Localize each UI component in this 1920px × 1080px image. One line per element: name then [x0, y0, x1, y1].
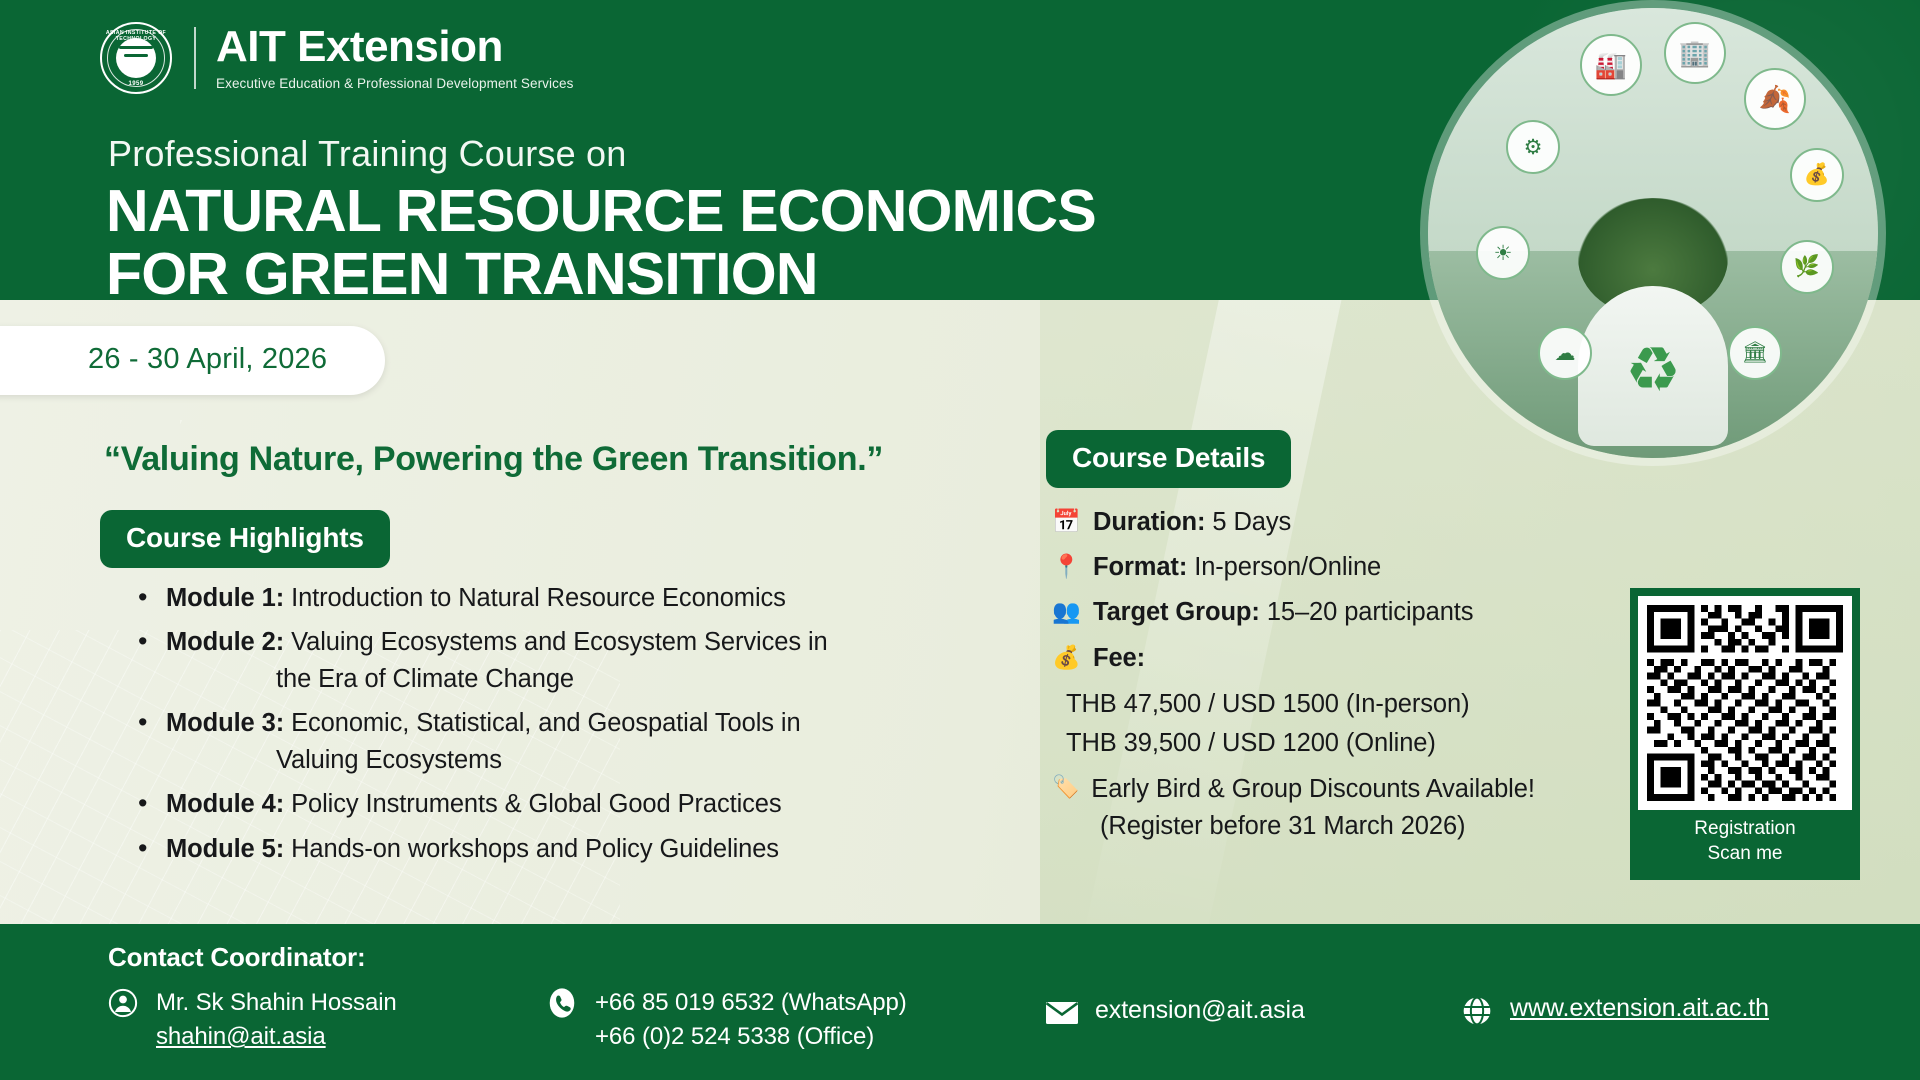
footer-contact-bar: Contact Coordinator: Mr. Sk Shahin Hossa… [0, 924, 1920, 1080]
module-text-cont: the Era of Climate Change [166, 661, 918, 697]
coordinator-email[interactable]: shahin@ait.asia [156, 1020, 397, 1054]
hero-sustainability-image: ♻ 🏭 🏢 🍂 ⚙ 💰 ☀ 🌿 ☁ 🏛 [1428, 8, 1878, 458]
detail-key: Duration: [1093, 508, 1205, 536]
calendar-icon: 📅 [1052, 504, 1080, 539]
ait-seal-icon: ASIAN INSTITUTE OF TECHNOLOGY 1959 [100, 22, 172, 94]
coordinator-name: Mr. Sk Shahin Hossain [156, 986, 397, 1020]
module-text: Policy Instruments & Global Good Practic… [291, 790, 781, 818]
detail-value: In-person/Online [1194, 553, 1381, 581]
module-label: Module 4: [166, 790, 284, 818]
co2-icon: ☁ [1538, 326, 1592, 380]
factory-icon: 🏭 [1580, 34, 1642, 96]
registration-qr-block[interactable]: Registration Scan me [1630, 588, 1860, 880]
contact-phone-block: +66 85 019 6532 (WhatsApp) +66 (0)2 524 … [545, 986, 907, 1054]
course-title: NATURAL RESOURCE ECONOMICS FOR GREEN TRA… [106, 180, 1096, 306]
money-plant-icon: 💰 [1790, 148, 1844, 202]
list-item: Module 2: Valuing Ecosystems and Ecosyst… [128, 624, 918, 697]
envelope-icon [1045, 996, 1079, 1030]
brand-tagline: Executive Education & Professional Devel… [216, 76, 573, 91]
course-details-list: 📅 Duration: 5 Days 📍 Format: In-person/O… [1052, 504, 1652, 841]
detail-value: 15–20 participants [1267, 598, 1474, 626]
detail-value: 5 Days [1212, 508, 1291, 536]
discount-deadline: (Register before 31 March 2026) [1052, 812, 1652, 841]
leaf-plug-icon: 🍂 [1744, 68, 1806, 130]
detail-row-duration: 📅 Duration: 5 Days [1052, 504, 1652, 541]
qr-code-image[interactable] [1638, 596, 1852, 810]
module-label: Module 1: [166, 584, 284, 612]
detail-key: Fee: [1093, 640, 1145, 677]
detail-key: Target Group: [1093, 598, 1260, 626]
phone-icon [545, 986, 579, 1020]
contact-website-block: www.extension.ait.ac.th [1460, 994, 1769, 1028]
qr-caption-line1: Registration [1630, 816, 1860, 841]
course-dates-pill: 26 - 30 April, 2026 [0, 326, 385, 395]
contact-email-block: extension@ait.asia [1045, 996, 1305, 1030]
list-item: Module 3: Economic, Statistical, and Geo… [128, 705, 918, 778]
course-details-badge: Course Details [1046, 430, 1291, 488]
detail-row-format: 📍 Format: In-person/Online [1052, 549, 1652, 586]
fee-inperson: THB 47,500 / USD 1500 (In-person) [1052, 685, 1652, 724]
module-text-cont: Valuing Ecosystems [166, 742, 918, 778]
list-item: Module 5: Hands-on workshops and Policy … [128, 831, 918, 867]
website-url[interactable]: www.extension.ait.ac.th [1510, 994, 1769, 1023]
discount-tag-icon: 🏷️ [1052, 771, 1079, 803]
contact-person-block: Mr. Sk Shahin Hossain shahin@ait.asia [106, 986, 397, 1054]
list-item: Module 4: Policy Instruments & Global Go… [128, 786, 918, 822]
solar-panel-icon: ☀ [1476, 226, 1530, 280]
module-text: Introduction to Natural Resource Economi… [291, 584, 786, 612]
module-label: Module 2: [166, 628, 284, 656]
course-modules-list: Module 1: Introduction to Natural Resour… [128, 580, 918, 875]
course-pretitle: Professional Training Course on [108, 133, 626, 175]
people-icon: 👥 [1052, 594, 1080, 629]
brand-logo: ASIAN INSTITUTE OF TECHNOLOGY 1959 AIT E… [100, 22, 573, 94]
globe-icon [1460, 994, 1494, 1028]
list-item: Module 1: Introduction to Natural Resour… [128, 580, 918, 616]
logo-divider [194, 27, 196, 89]
globe-icon [116, 38, 156, 78]
course-tagline: “Valuing Nature, Powering the Green Tran… [104, 440, 883, 479]
qr-caption-line2: Scan me [1630, 841, 1860, 866]
phone-office: +66 (0)2 524 5338 (Office) [595, 1020, 907, 1054]
building-people-icon: 🏢 [1664, 22, 1726, 84]
detail-key: Format: [1093, 553, 1187, 581]
course-highlights-badge: Course Highlights [100, 510, 390, 568]
brand-name: AIT Extension [216, 25, 573, 69]
detail-row-fee: 💰 Fee: [1052, 640, 1652, 677]
module-text: Economic, Statistical, and Geospatial To… [291, 709, 800, 737]
money-bag-icon: 💰 [1052, 640, 1080, 675]
discount-text: Early Bird & Group Discounts Available! [1091, 771, 1535, 808]
course-title-line2: FOR GREEN TRANSITION [106, 243, 1096, 306]
detail-row-target-group: 👥 Target Group: 15–20 participants [1052, 594, 1652, 631]
person-icon [106, 986, 140, 1020]
fee-online: THB 39,500 / USD 1200 (Online) [1052, 724, 1652, 763]
recycle-icon: ♻ [1625, 340, 1681, 402]
hand-leaf-icon: 🌿 [1780, 240, 1834, 294]
contact-email[interactable]: extension@ait.asia [1095, 996, 1305, 1025]
bank-icon: 🏛 [1728, 326, 1782, 380]
contact-coordinator-label: Contact Coordinator: [108, 942, 365, 973]
module-label: Module 5: [166, 835, 284, 863]
module-text: Valuing Ecosystems and Ecosystem Service… [291, 628, 828, 656]
course-title-line1: NATURAL RESOURCE ECONOMICS [106, 180, 1096, 243]
discount-row: 🏷️ Early Bird & Group Discounts Availabl… [1052, 771, 1652, 808]
seal-year-text: 1959 [102, 81, 170, 87]
module-text: Hands-on workshops and Policy Guidelines [291, 835, 779, 863]
wind-turbine-icon: ⚙ [1506, 120, 1560, 174]
phone-whatsapp: +66 85 019 6532 (WhatsApp) [595, 986, 907, 1020]
location-pin-icon: 📍 [1052, 549, 1080, 584]
module-label: Module 3: [166, 709, 284, 737]
